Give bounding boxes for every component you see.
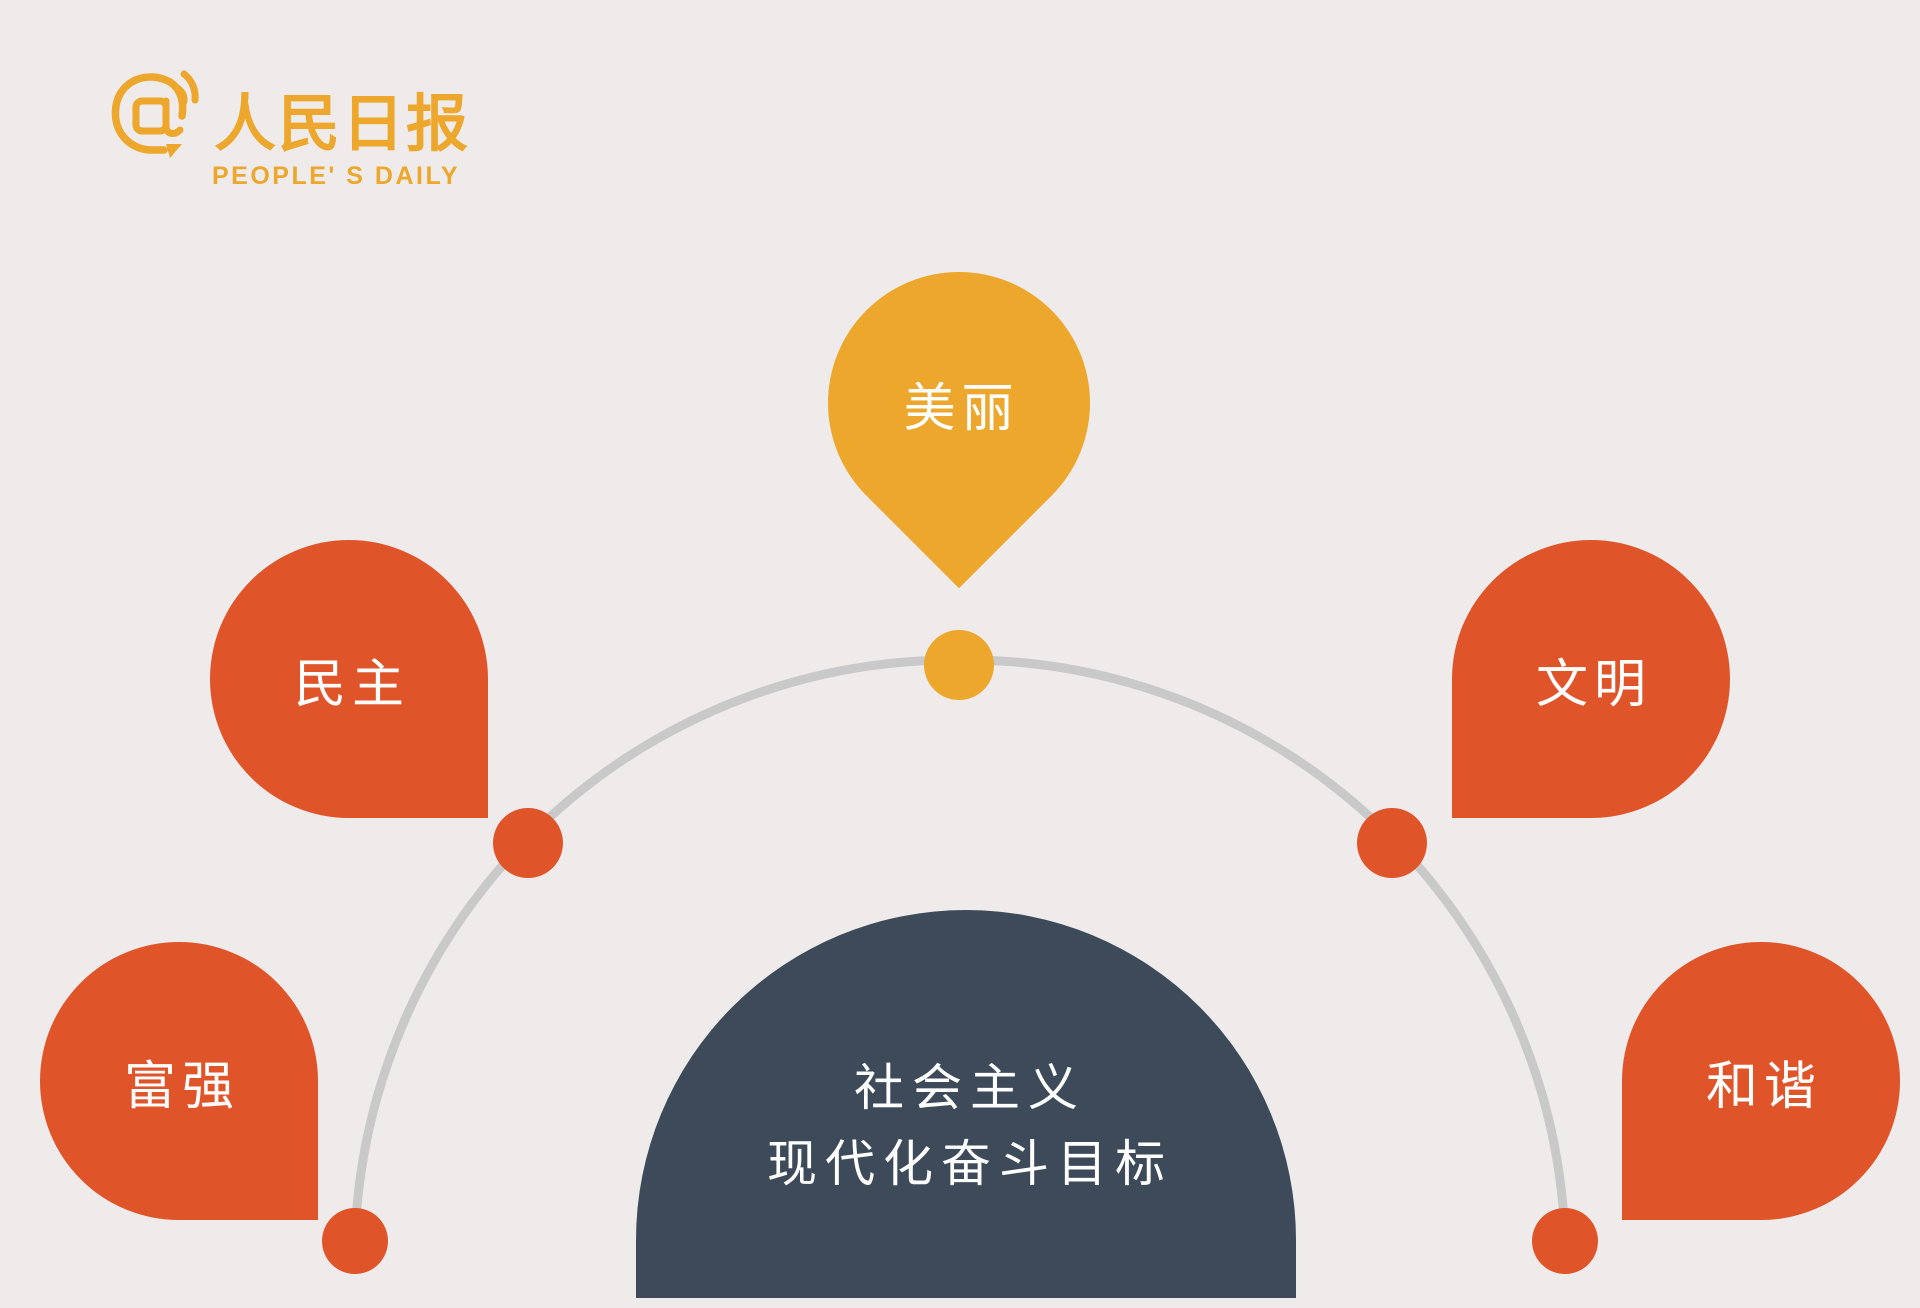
pin-fuqiang[interactable]: 富强: [40, 942, 318, 1220]
pin-wenming[interactable]: 文明: [1452, 540, 1730, 818]
pin-meili-label: 美丽: [898, 365, 1020, 440]
dot-mid-right: [1357, 808, 1427, 878]
dot-apex: [924, 630, 994, 700]
pin-hexie-label: 和谐: [1700, 1044, 1822, 1119]
dot-bottom-left: [322, 1208, 388, 1274]
pin-fuqiang-label: 富强: [118, 1044, 240, 1119]
dot-mid-left: [493, 808, 563, 878]
pin-wenming-label: 文明: [1530, 642, 1652, 717]
central-dome-line-2: 现代化奋斗目标: [759, 1126, 1173, 1202]
pin-minzhu-label: 民主: [288, 642, 410, 717]
dot-bottom-right: [1532, 1208, 1598, 1274]
infographic-canvas: 人民日报 PEOPLE' S DAILY 美丽 民主 富强 文明 和谐 社会主义…: [0, 0, 1920, 1308]
pin-minzhu[interactable]: 民主: [210, 540, 488, 818]
pin-hexie[interactable]: 和谐: [1622, 942, 1900, 1220]
central-dome-line-1: 社会主义: [846, 1050, 1086, 1126]
